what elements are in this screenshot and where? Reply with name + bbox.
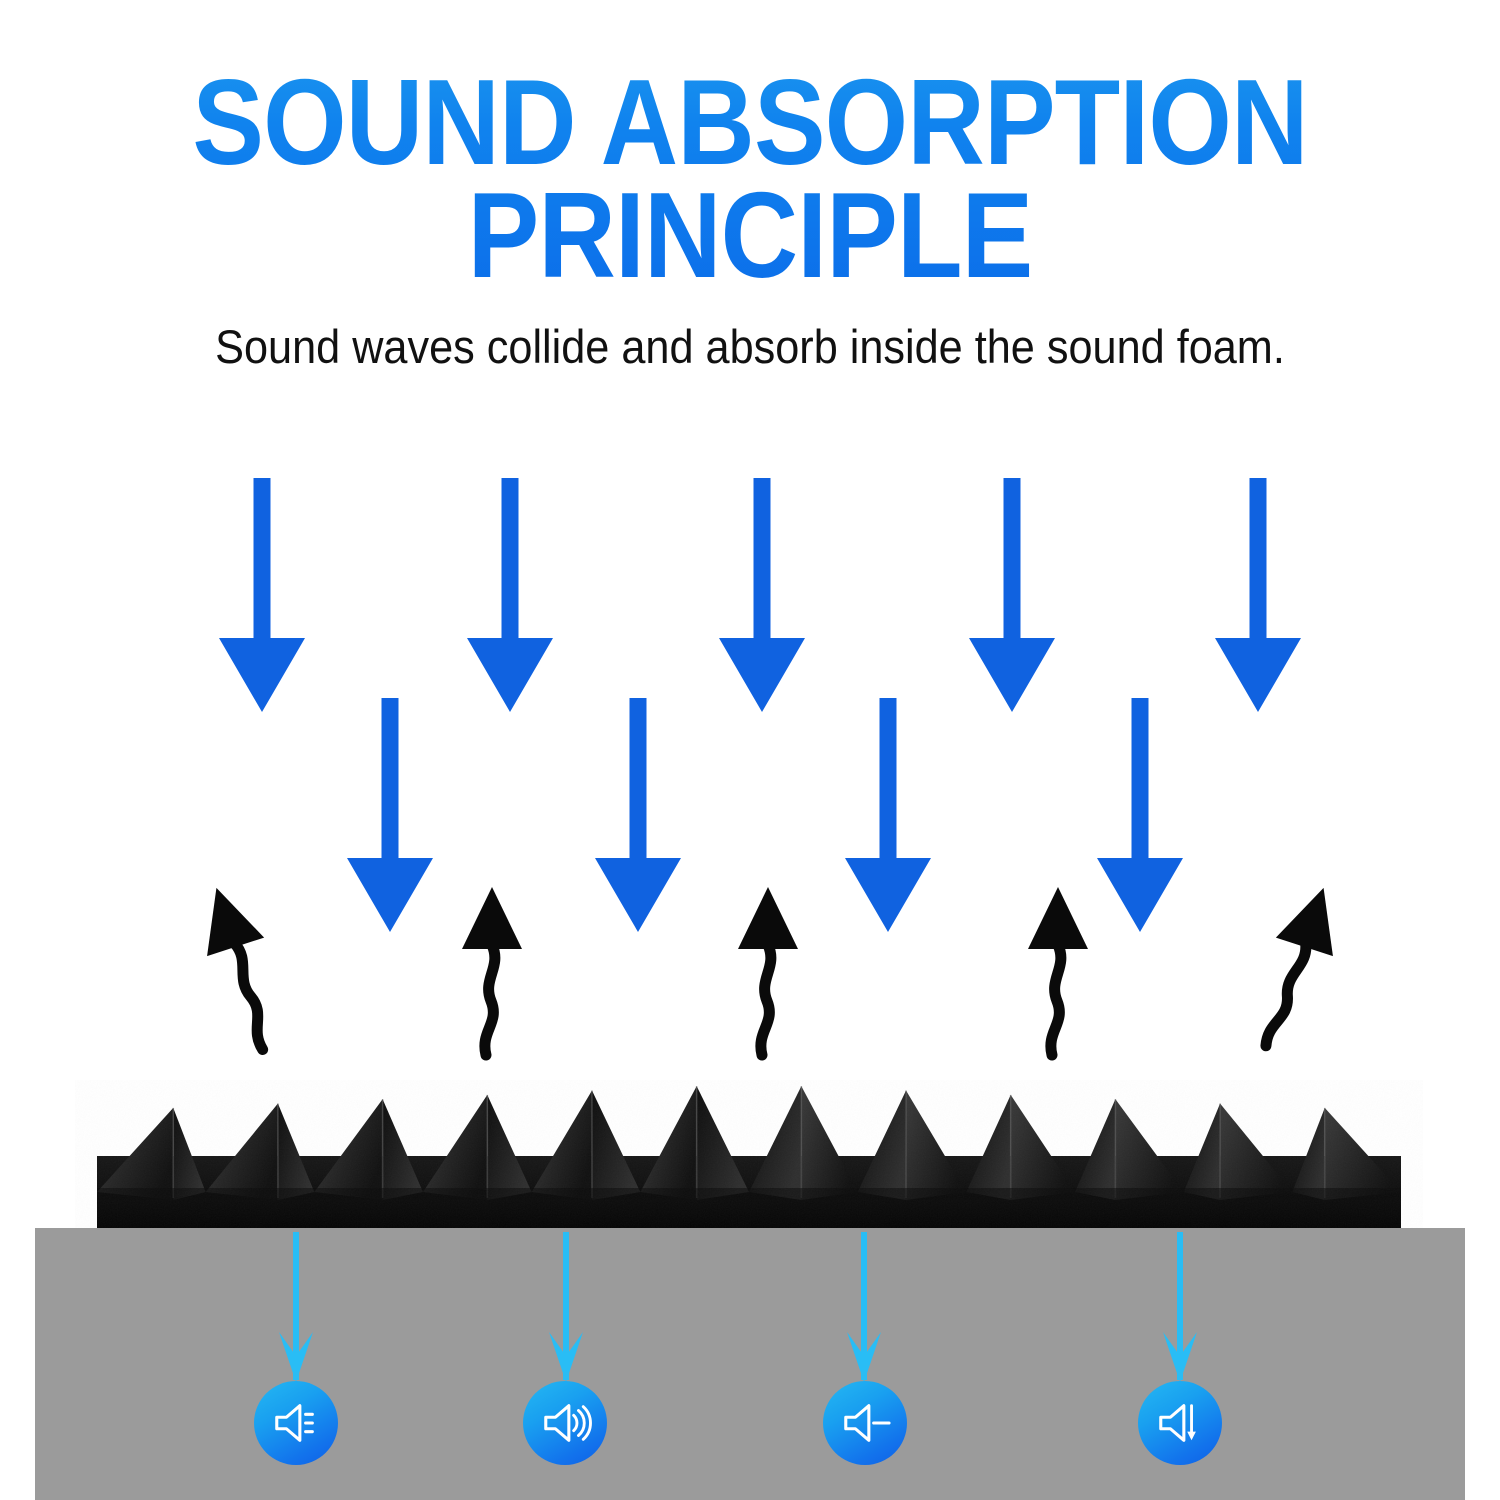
incident-arrow-3-shape <box>719 478 805 712</box>
reflected-arrow-2-head <box>462 887 522 949</box>
incident-arrow-9-shape <box>1097 698 1183 932</box>
reflected-arrow-4-tail <box>1051 945 1061 1055</box>
foam-illustration <box>75 1060 1423 1240</box>
incident-arrow-4-shape <box>969 478 1055 712</box>
reflected-arrow-3 <box>738 887 798 1055</box>
incident-arrow-6 <box>347 698 433 932</box>
reflected-arrow-1 <box>188 879 297 1057</box>
speaker-minus-icon-glyph <box>834 1398 896 1448</box>
speaker-down-arrow-icon[interactable] <box>1138 1381 1222 1465</box>
reflected-arrow-1-tail <box>228 942 272 1050</box>
reflected-arrow-3-head <box>738 887 798 949</box>
reflected-arrow-2-tail <box>485 945 495 1055</box>
incident-arrow-5 <box>1215 478 1301 712</box>
incident-arrow-5-shape <box>1215 478 1301 712</box>
incident-arrow-7 <box>595 698 681 932</box>
page-subtitle: Sound waves collide and absorb inside th… <box>60 293 1440 374</box>
speaker-dots-icon[interactable] <box>254 1381 338 1465</box>
incident-arrow-8-shape <box>845 698 931 932</box>
reflected-arrow-1-head <box>188 879 264 957</box>
reflected-arrow-group <box>188 879 1352 1057</box>
incident-arrow-6-shape <box>347 698 433 932</box>
reflected-arrow-5-head <box>1276 879 1352 957</box>
acoustic-foam-panel <box>75 1060 1423 1240</box>
incident-arrow-row-2 <box>347 698 1183 932</box>
incident-arrow-7-shape <box>595 698 681 932</box>
incident-arrow-9 <box>1097 698 1183 932</box>
infographic-canvas: SOUND ABSORPTION PRINCIPLE Sound waves c… <box>0 0 1500 1500</box>
speaker-waves-icon-glyph <box>534 1398 596 1448</box>
reflected-arrow-4-head <box>1028 887 1088 949</box>
incident-arrow-1-shape <box>219 478 305 712</box>
speaker-dots-icon-glyph <box>265 1398 327 1448</box>
incident-arrow-row-1 <box>219 478 1301 712</box>
speaker-minus-icon[interactable] <box>823 1381 907 1465</box>
page-title: SOUND ABSORPTION PRINCIPLE <box>90 0 1410 293</box>
reflected-arrow-4 <box>1028 887 1088 1055</box>
wall-surface <box>35 1228 1465 1500</box>
incident-arrow-2 <box>467 478 553 712</box>
speaker-waves-icon[interactable] <box>523 1381 607 1465</box>
reflected-arrow-5 <box>1243 879 1352 1057</box>
reflected-arrow-3-tail <box>761 945 771 1055</box>
incident-arrow-4 <box>969 478 1055 712</box>
reflected-arrow-5-tail <box>1265 941 1309 1049</box>
header: SOUND ABSORPTION PRINCIPLE Sound waves c… <box>0 0 1500 374</box>
incident-arrow-3 <box>719 478 805 712</box>
speaker-down-arrow-icon-glyph <box>1149 1398 1211 1448</box>
reflected-arrow-2 <box>462 887 522 1055</box>
incident-arrow-1 <box>219 478 305 712</box>
incident-arrow-8 <box>845 698 931 932</box>
incident-arrow-2-shape <box>467 478 553 712</box>
